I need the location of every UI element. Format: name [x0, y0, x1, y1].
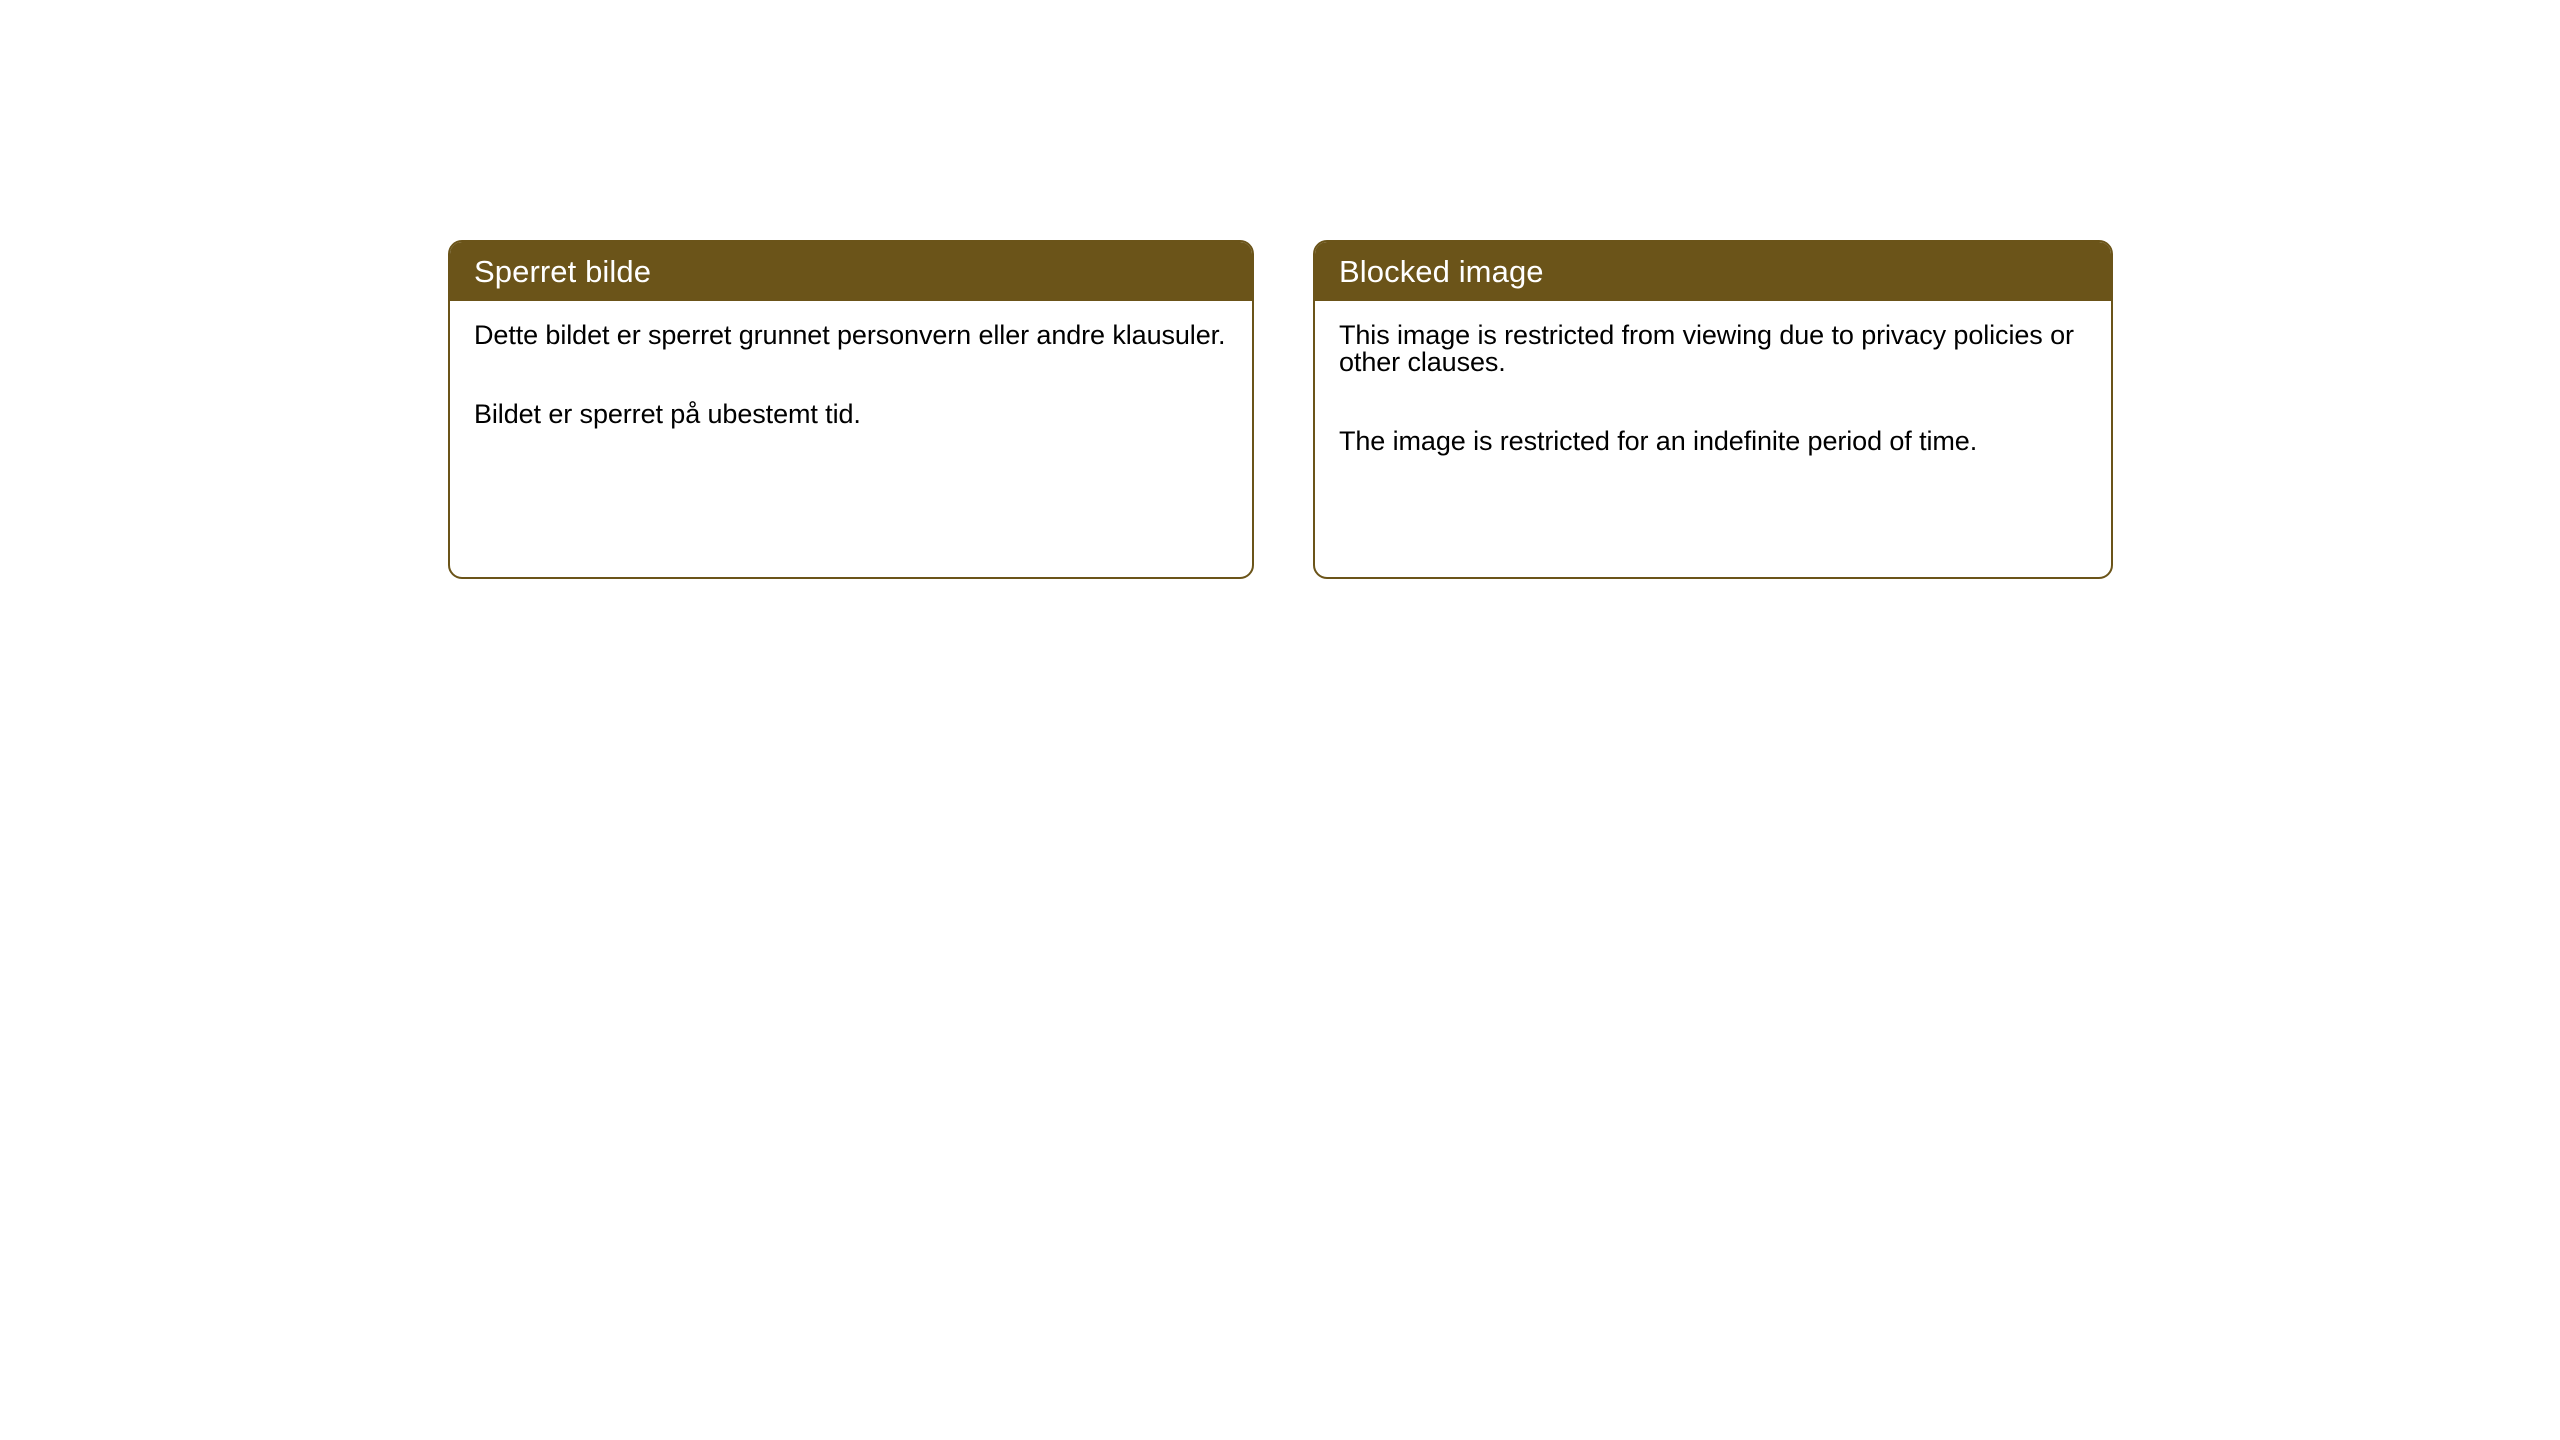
- card-header-english: Blocked image: [1315, 242, 2111, 301]
- card-body-english: This image is restricted from viewing du…: [1315, 301, 2111, 455]
- card-paragraph-duration-english: The image is restricted for an indefinit…: [1339, 428, 2087, 455]
- card-header-norwegian: Sperret bilde: [450, 242, 1252, 301]
- card-paragraph-duration-norwegian: Bildet er sperret på ubestemt tid.: [474, 401, 1228, 428]
- card-title-norwegian: Sperret bilde: [474, 256, 651, 287]
- blocked-image-notice-card-norwegian: Sperret bilde Dette bildet er sperret gr…: [448, 240, 1254, 579]
- card-paragraph-reason-english: This image is restricted from viewing du…: [1339, 322, 2087, 376]
- card-title-english: Blocked image: [1339, 256, 1544, 287]
- card-body-norwegian: Dette bildet er sperret grunnet personve…: [450, 301, 1252, 428]
- page-canvas: Sperret bilde Dette bildet er sperret gr…: [0, 0, 2560, 1440]
- blocked-image-notice-card-english: Blocked image This image is restricted f…: [1313, 240, 2113, 579]
- card-paragraph-reason-norwegian: Dette bildet er sperret grunnet personve…: [474, 322, 1228, 349]
